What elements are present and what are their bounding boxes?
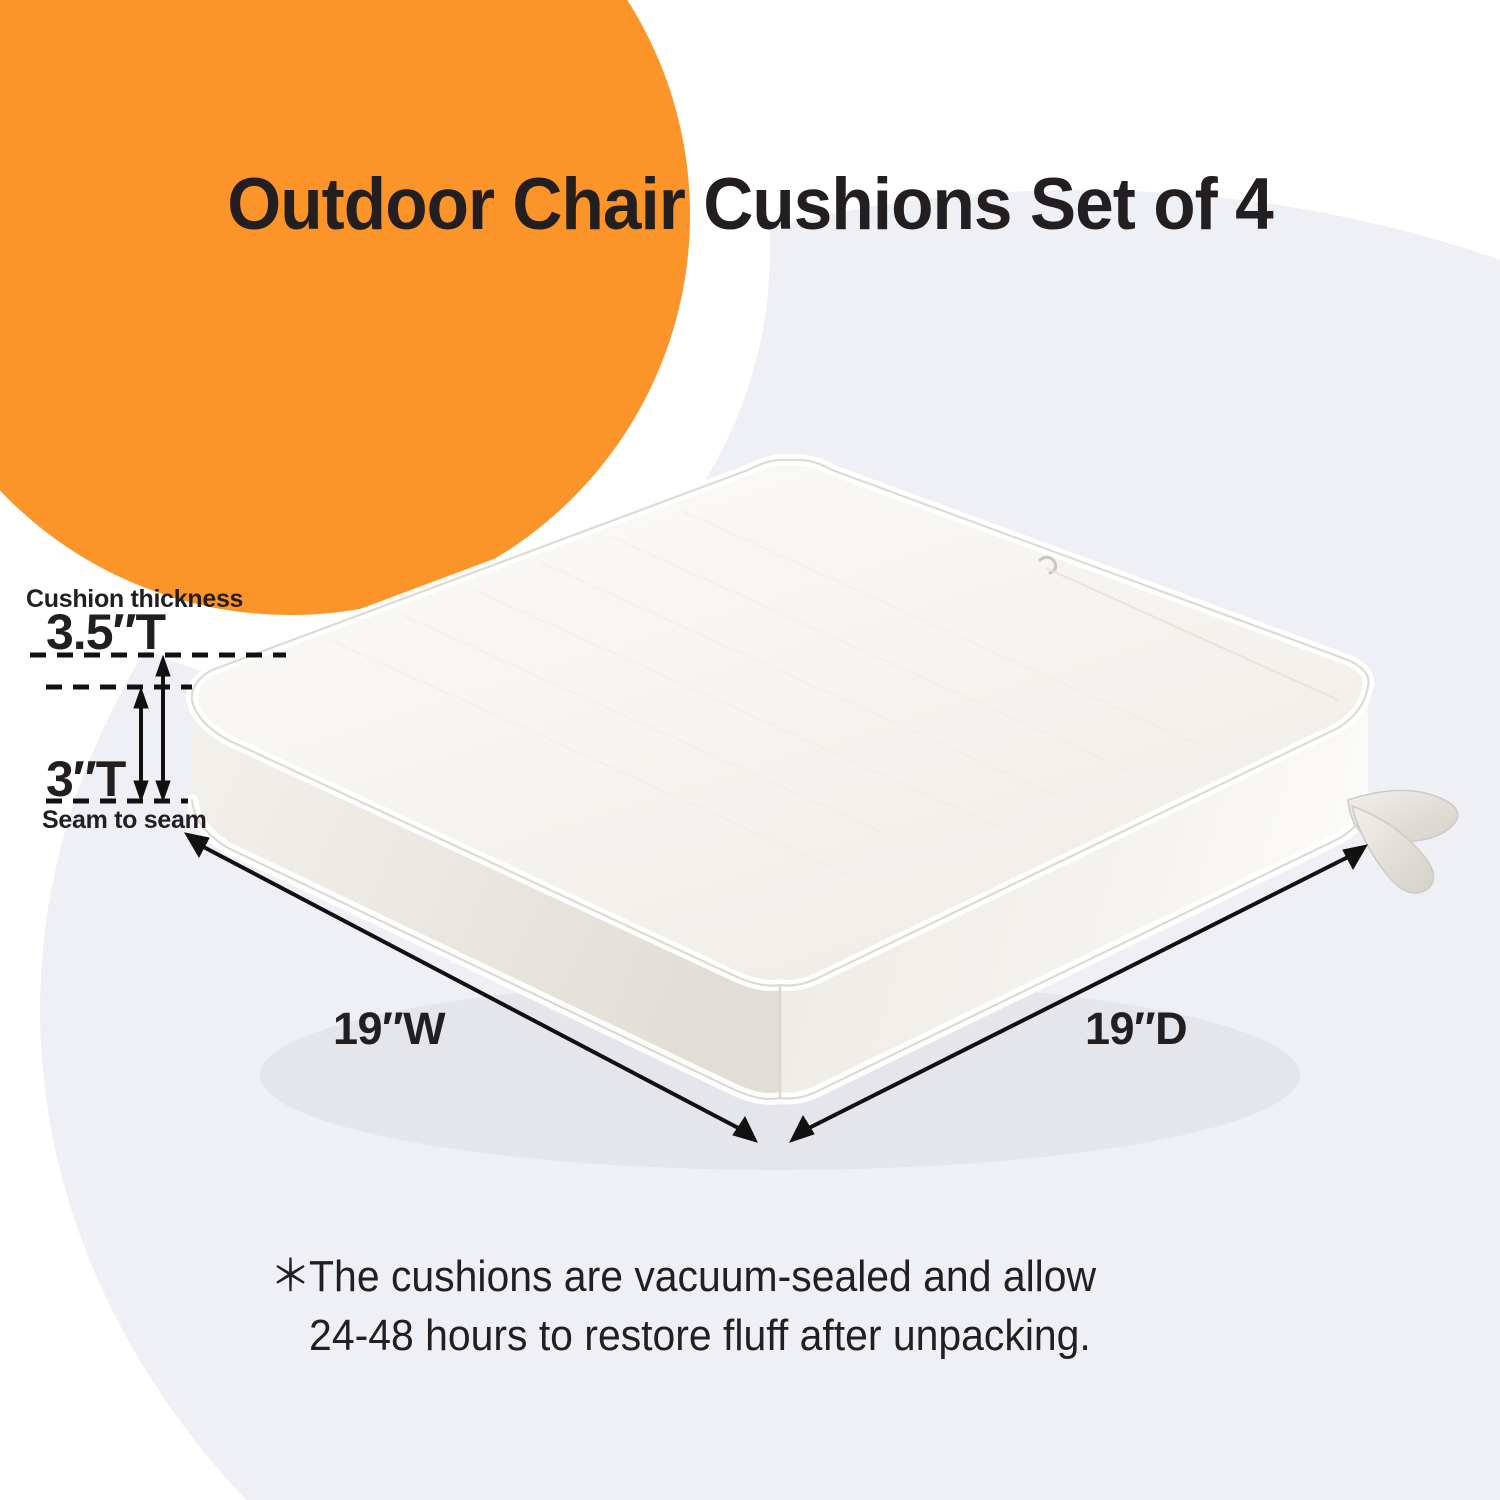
footnote: ＊The cushions are vacuum-sealed and allo… <box>270 1248 1200 1365</box>
seam-to-seam-caption: Seam to seam <box>42 806 207 835</box>
footnote-marker: ＊ <box>270 1248 309 1307</box>
thickness-overall-label: 3.5″T <box>46 603 165 661</box>
width-label: 19″W <box>333 1003 445 1055</box>
page-title: Outdoor Chair Cushions Set of 4 <box>38 163 1463 246</box>
footnote-line-2: 24-48 hours to restore fluff after unpac… <box>270 1307 1200 1366</box>
thickness-seam-label: 3″T <box>46 750 125 808</box>
infographic-canvas: Outdoor Chair Cushions Set of 4 Cushion … <box>0 0 1500 1500</box>
depth-label: 19″D <box>1085 1003 1187 1055</box>
footnote-line-1: The cushions are vacuum-sealed and allow <box>309 1252 1096 1301</box>
